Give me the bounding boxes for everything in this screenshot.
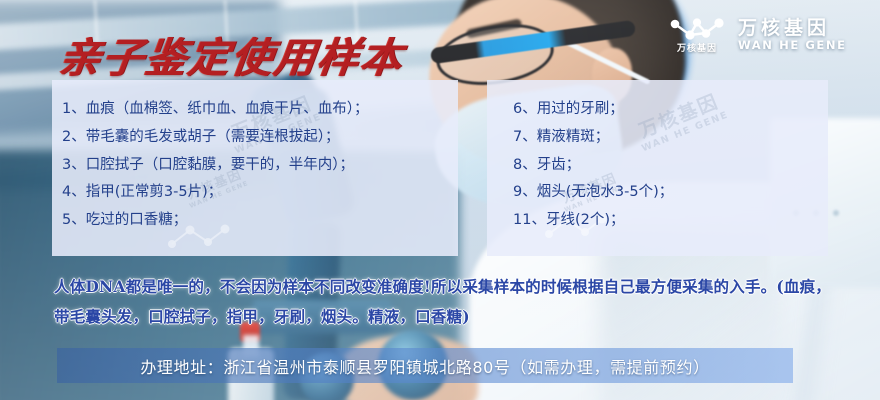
sample-list-panel-right: 万核基因 WAN HE GENE 万核基因 WAN HE GENE 6、用过的牙… xyxy=(487,80,828,256)
sample-list-right: 6、用过的牙刷； 7、精液精斑； 8、牙齿； 9、烟头(无泡水3-5个)； 11… xyxy=(487,80,828,235)
logo-mark: 万核基因 xyxy=(668,16,726,54)
list-item: 2、带毛囊的毛发或胡子（需要连根拔起）； xyxy=(62,124,458,152)
brand-logo: 万核基因 万核基因 WAN HE GENE xyxy=(668,16,847,54)
logo-name-cn: 万核基因 xyxy=(738,18,847,39)
list-item: 6、用过的牙刷； xyxy=(513,96,828,124)
list-item: 9、烟头(无泡水3-5个)； xyxy=(513,179,828,207)
list-item: 7、精液精斑； xyxy=(513,124,828,152)
sample-list-left: 1、血痕（血棉签、纸巾血、血痕干片、血布）； 2、带毛囊的毛发或胡子（需要连根拔… xyxy=(52,80,458,235)
list-item: 3、口腔拭子（口腔黏膜，要干的，半年内）； xyxy=(62,152,458,180)
sample-list-panel-left: 万核基因 WAN HE GENE 万核基因 WAN HE GENE 1、血痕（血… xyxy=(52,80,458,256)
list-item: 5、吃过的口香糖； xyxy=(62,207,458,235)
address-bar: 办理地址：浙江省温州市泰顺县罗阳镇城北路80号（如需办理，需提前预约） xyxy=(57,348,793,383)
poster-root: 亲子鉴定使用样本 xyxy=(0,0,880,400)
logo-wordmark: 万核基因 WAN HE GENE xyxy=(738,18,847,52)
page-title: 亲子鉴定使用样本 xyxy=(56,24,407,84)
molecule-icon xyxy=(668,16,726,43)
list-item: 1、血痕（血棉签、纸巾血、血痕干片、血布）； xyxy=(62,96,458,124)
logo-mark-label: 万核基因 xyxy=(677,45,717,54)
address-text: 办理地址：浙江省温州市泰顺县罗阳镇城北路80号（如需办理，需提前预约） xyxy=(140,354,709,378)
logo-name-en: WAN HE GENE xyxy=(738,39,847,52)
list-item: 8、牙齿； xyxy=(513,152,828,180)
list-item: 4、指甲(正常剪3-5片)； xyxy=(62,179,458,207)
list-item: 11、牙线(2个)； xyxy=(513,207,828,235)
note-paragraph: 人体DNA都是唯一的，不会因为样本不同改变准确度!所以采集样本的时候根据自己最方… xyxy=(54,272,834,332)
